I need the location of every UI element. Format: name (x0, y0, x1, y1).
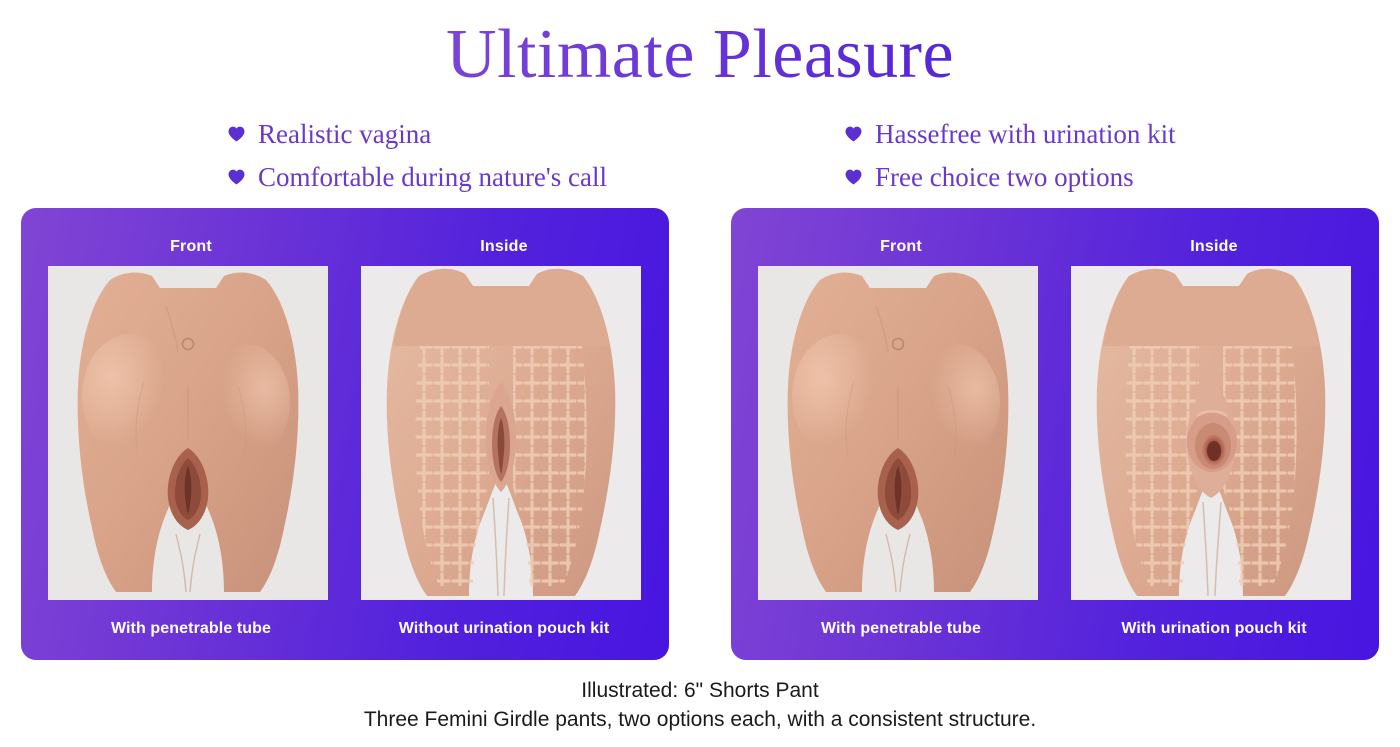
feature-label: Realistic vagina (258, 119, 431, 149)
feature-label: Comfortable during nature's call (258, 162, 607, 192)
view-label: Inside (1058, 238, 1370, 256)
product-panels: Front (0, 208, 1400, 660)
view-label: Inside (348, 238, 660, 256)
garment-illustration (758, 266, 1038, 600)
product-panel-without-urination-kit: Front (21, 208, 669, 660)
view-label: Front (745, 238, 1057, 256)
photo-caption: With penetrable tube (35, 620, 347, 638)
panel-column-front: Front (745, 208, 1057, 660)
heart-icon (845, 169, 862, 185)
photo-caption: With penetrable tube (745, 620, 1057, 638)
feature-item: Realistic vagina (228, 112, 607, 155)
footer-line-description: Three Femini Girdle pants, two options e… (0, 705, 1400, 734)
garment-illustration (361, 266, 641, 600)
garment-front-svg (48, 266, 328, 600)
panel-column-inside: Inside (1058, 208, 1370, 660)
photo-caption: Without urination pouch kit (348, 620, 660, 638)
footer-note: Illustrated: 6" Shorts Pant Three Femini… (0, 676, 1400, 734)
feature-item: Comfortable during nature's call (228, 155, 607, 198)
garment-inside-plain-svg (361, 266, 641, 600)
feature-label: Hassefree with urination kit (875, 119, 1176, 149)
photo-caption: With urination pouch kit (1058, 620, 1370, 638)
garment-illustration (1071, 266, 1351, 600)
garment-illustration (48, 266, 328, 600)
product-photo-front (48, 266, 328, 600)
product-photo-inside (1071, 266, 1351, 600)
garment-front-svg (758, 266, 1038, 600)
heart-icon (228, 169, 245, 185)
feature-list: Realistic vagina Comfortable during natu… (0, 112, 1400, 198)
feature-item: Free choice two options (845, 155, 1176, 198)
garment-inside-pouch-svg (1071, 266, 1351, 600)
feature-column-right: Hassefree with urination kit Free choice… (845, 112, 1176, 198)
view-label: Front (35, 238, 347, 256)
panel-column-front: Front (35, 208, 347, 660)
footer-line-illustrated: Illustrated: 6" Shorts Pant (0, 676, 1400, 705)
heart-icon (845, 126, 862, 142)
product-panel-with-urination-kit: Front (731, 208, 1379, 660)
product-photo-front (758, 266, 1038, 600)
panel-column-inside: Inside (348, 208, 660, 660)
heart-icon (228, 126, 245, 142)
product-photo-inside (361, 266, 641, 600)
feature-item: Hassefree with urination kit (845, 112, 1176, 155)
page-title: Ultimate Pleasure (0, 14, 1400, 96)
feature-label: Free choice two options (875, 162, 1134, 192)
feature-column-left: Realistic vagina Comfortable during natu… (228, 112, 607, 198)
